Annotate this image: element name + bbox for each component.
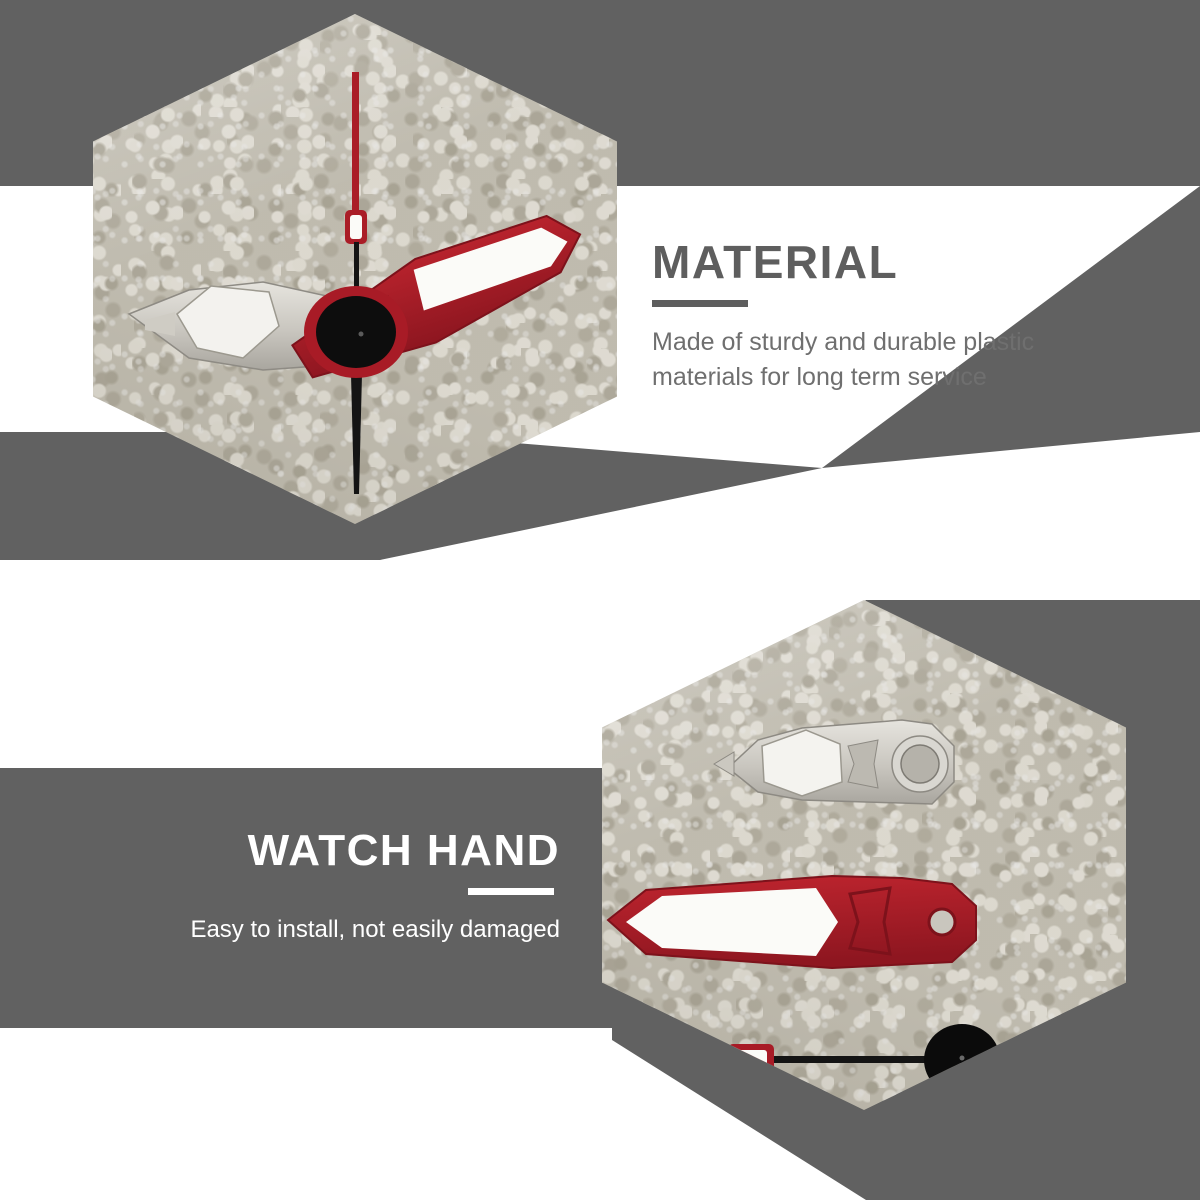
photo-hex-top bbox=[93, 14, 617, 524]
black-second-hand-with-hub bbox=[682, 1024, 1102, 1096]
watch-hand-accent-rule bbox=[468, 888, 554, 895]
material-heading: MATERIAL bbox=[652, 238, 1122, 286]
photo-hex-bottom bbox=[602, 600, 1126, 1110]
watch-hands-assembled-art bbox=[93, 14, 617, 524]
red-minute-hand bbox=[608, 876, 976, 968]
centre-hub bbox=[304, 286, 408, 378]
watch-hand-text-block: WATCH HAND Easy to install, not easily d… bbox=[130, 828, 560, 946]
watch-hand-body-text: Easy to install, not easily damaged bbox=[130, 913, 560, 946]
material-text-block: MATERIAL Made of sturdy and durable plas… bbox=[652, 238, 1122, 394]
watch-hands-separate-art bbox=[602, 600, 1126, 1110]
infographic-canvas: MATERIAL Made of sturdy and durable plas… bbox=[0, 0, 1200, 1200]
silver-hour-hand bbox=[714, 720, 954, 804]
material-accent-rule bbox=[652, 300, 748, 307]
red-second-hand-stem bbox=[345, 72, 367, 244]
watch-hand-heading: WATCH HAND bbox=[130, 828, 560, 874]
white-wedge-lower-left bbox=[0, 1028, 612, 1200]
material-body-text: Made of sturdy and durable plastic mater… bbox=[652, 325, 1122, 394]
